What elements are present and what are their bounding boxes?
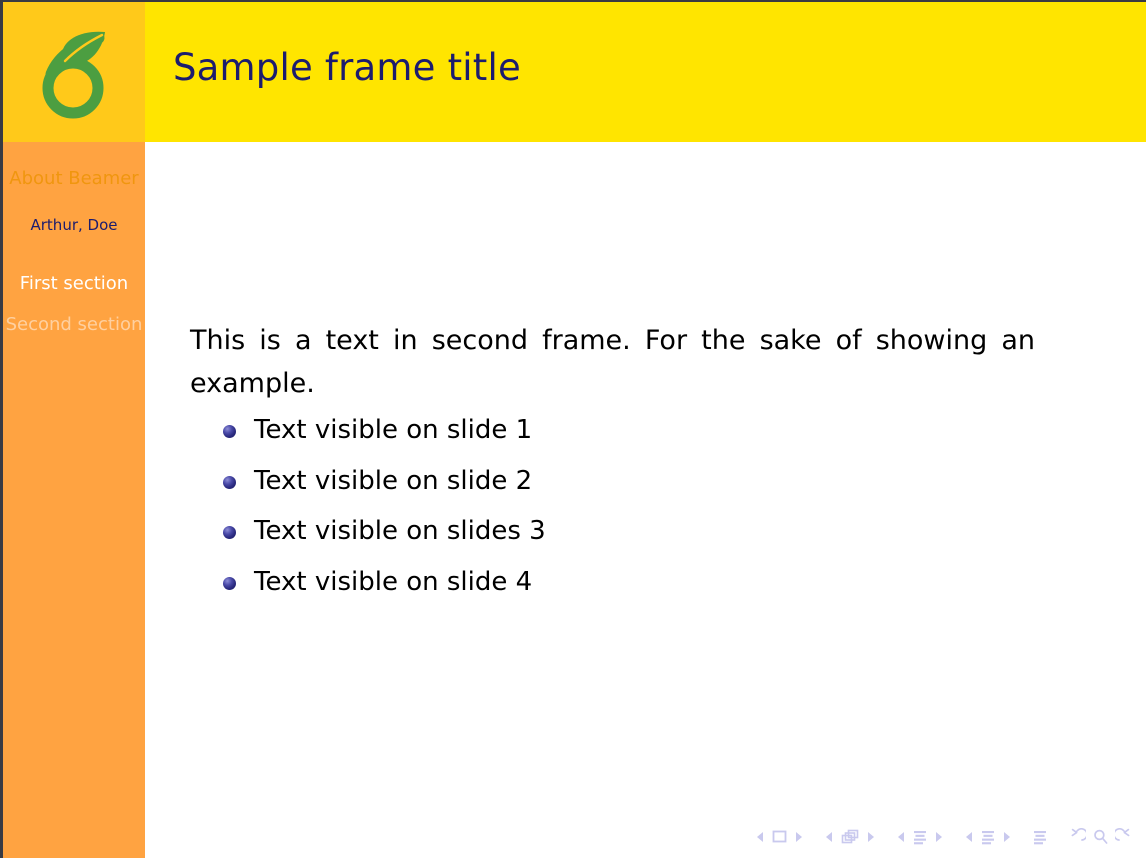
sidebar-item-first-section[interactable]: First section bbox=[3, 273, 145, 294]
beamer-slide: Sample frame title About Beamer Arthur, … bbox=[0, 0, 1146, 858]
sidebar-presentation-title: About Beamer bbox=[3, 168, 145, 189]
bullet-list: Text visible on slide 1 Text visible on … bbox=[223, 414, 546, 616]
list-item: Text visible on slide 2 bbox=[223, 465, 546, 498]
sidebar-author: Arthur, Doe bbox=[3, 216, 145, 234]
slide-square-icon[interactable] bbox=[771, 829, 788, 845]
frame-title: Sample frame title bbox=[173, 46, 521, 89]
sidebar-item-second-section[interactable]: Second section bbox=[3, 314, 145, 335]
section-navigation-group bbox=[961, 829, 1015, 846]
bullet-ball-icon bbox=[223, 425, 236, 438]
section-lines-icon[interactable] bbox=[980, 829, 996, 846]
prev-slide-arrow-icon[interactable] bbox=[755, 830, 765, 844]
list-item-label: Text visible on slide 1 bbox=[254, 415, 532, 445]
overleaf-logo-icon bbox=[28, 20, 120, 124]
next-section-arrow-icon[interactable] bbox=[1002, 830, 1012, 844]
document-lines-icon[interactable] bbox=[1032, 829, 1048, 846]
search-magnifier-icon[interactable] bbox=[1092, 828, 1109, 846]
prev-frame-arrow-icon[interactable] bbox=[824, 830, 834, 844]
sidebar-navigation: About Beamer Arthur, Doe First section S… bbox=[3, 142, 145, 858]
list-item-label: Text visible on slides 3 bbox=[254, 516, 546, 546]
list-item-label: Text visible on slide 4 bbox=[254, 567, 532, 597]
subsection-lines-icon[interactable] bbox=[912, 829, 928, 846]
forward-arrow-icon[interactable] bbox=[1115, 828, 1133, 846]
back-arrow-icon[interactable] bbox=[1068, 828, 1086, 846]
next-frame-arrow-icon[interactable] bbox=[866, 830, 876, 844]
slide-body: This is a text in second frame. For the … bbox=[145, 142, 1146, 858]
list-item: Text visible on slide 4 bbox=[223, 566, 546, 599]
list-item: Text visible on slides 3 bbox=[223, 515, 546, 548]
document-navigation-group bbox=[1029, 829, 1051, 846]
navigation-symbols bbox=[752, 828, 1136, 846]
frame-title-bar: Sample frame title bbox=[145, 2, 1146, 142]
next-subsection-arrow-icon[interactable] bbox=[934, 830, 944, 844]
next-slide-arrow-icon[interactable] bbox=[794, 830, 804, 844]
logo-block bbox=[3, 2, 145, 142]
prev-section-arrow-icon[interactable] bbox=[964, 830, 974, 844]
subsection-navigation-group bbox=[893, 829, 947, 846]
list-item-label: Text visible on slide 2 bbox=[254, 466, 532, 496]
frames-stack-icon[interactable] bbox=[840, 829, 860, 846]
list-item: Text visible on slide 1 bbox=[223, 414, 546, 447]
prev-subsection-arrow-icon[interactable] bbox=[896, 830, 906, 844]
body-paragraph: This is a text in second frame. For the … bbox=[190, 320, 1035, 405]
bullet-ball-icon bbox=[223, 577, 236, 590]
slide-navigation-group bbox=[752, 829, 807, 845]
frame-navigation-group bbox=[821, 829, 879, 846]
bullet-ball-icon bbox=[223, 476, 236, 489]
bullet-ball-icon bbox=[223, 526, 236, 539]
history-navigation-group bbox=[1065, 828, 1136, 846]
